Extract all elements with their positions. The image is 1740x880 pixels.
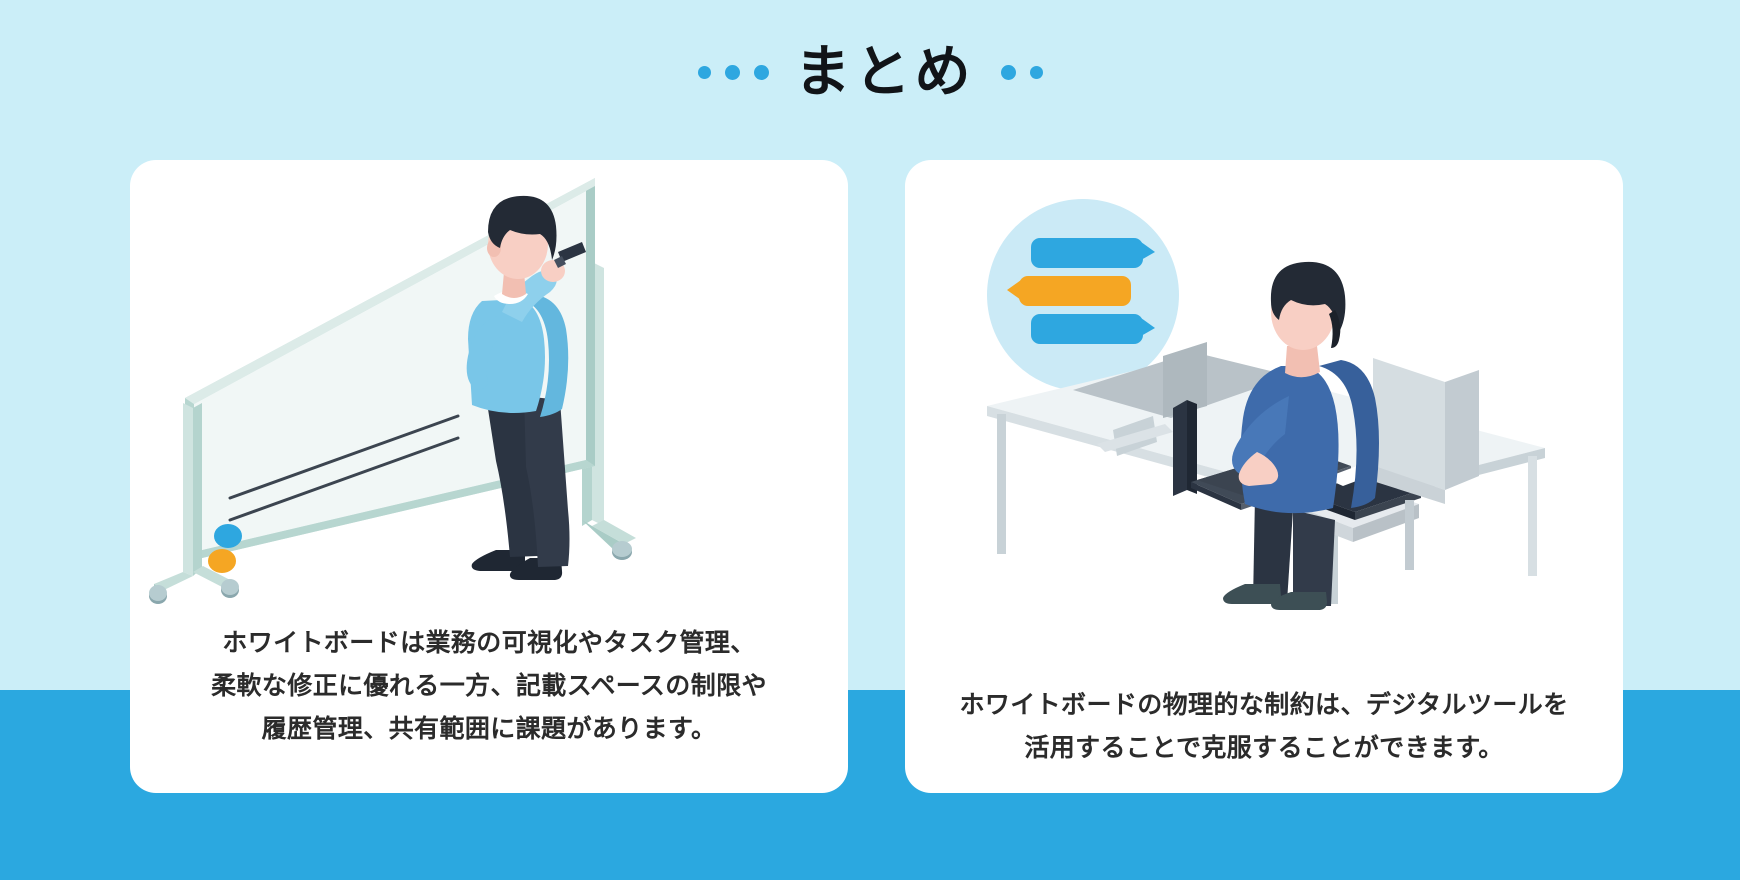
whiteboard-card: ホワイトボードは業務の可視化やタスク管理、 柔軟な修正に優れる一方、記載スペース… xyxy=(130,160,848,793)
whiteboard-card-caption: ホワイトボードは業務の可視化やタスク管理、 柔軟な修正に優れる一方、記載スペース… xyxy=(130,622,848,751)
caption-line: 履歴管理、共有範囲に課題があります。 xyxy=(164,708,814,751)
caption-line: 活用することで克服することができます。 xyxy=(939,727,1589,770)
page-title: まとめ xyxy=(795,44,975,100)
title-row: まとめ xyxy=(0,44,1740,100)
decor-dot-icon xyxy=(754,65,769,80)
digital-tool-card-caption: ホワイトボードの物理的な制約は、デジタルツールを 活用することで克服することがで… xyxy=(905,684,1623,770)
digital-tool-card: ホワイトボードの物理的な制約は、デジタルツールを 活用することで克服することがで… xyxy=(905,160,1623,793)
decor-dot-icon xyxy=(725,65,740,80)
digital-tool-illustration xyxy=(905,160,1623,610)
chat-message-orange-middle xyxy=(1007,276,1131,306)
decor-dot-icon xyxy=(698,66,711,79)
whiteboard-illustration xyxy=(130,160,848,610)
chat-message-blue-bottom xyxy=(1031,314,1155,344)
decor-dot-icon xyxy=(1030,66,1043,79)
title-dots-left xyxy=(698,65,769,80)
chat-message-blue-top xyxy=(1031,238,1155,268)
orange-magnet xyxy=(208,549,236,573)
caption-line: ホワイトボードは業務の可視化やタスク管理、 xyxy=(164,622,814,665)
blue-magnet xyxy=(214,524,242,548)
decor-dot-icon xyxy=(1001,65,1016,80)
slide-canvas: まとめ xyxy=(0,0,1740,880)
title-dots-right xyxy=(1001,65,1043,80)
caption-line: ホワイトボードの物理的な制約は、デジタルツールを xyxy=(939,684,1589,727)
caption-line: 柔軟な修正に優れる一方、記載スペースの制限や xyxy=(164,665,814,708)
